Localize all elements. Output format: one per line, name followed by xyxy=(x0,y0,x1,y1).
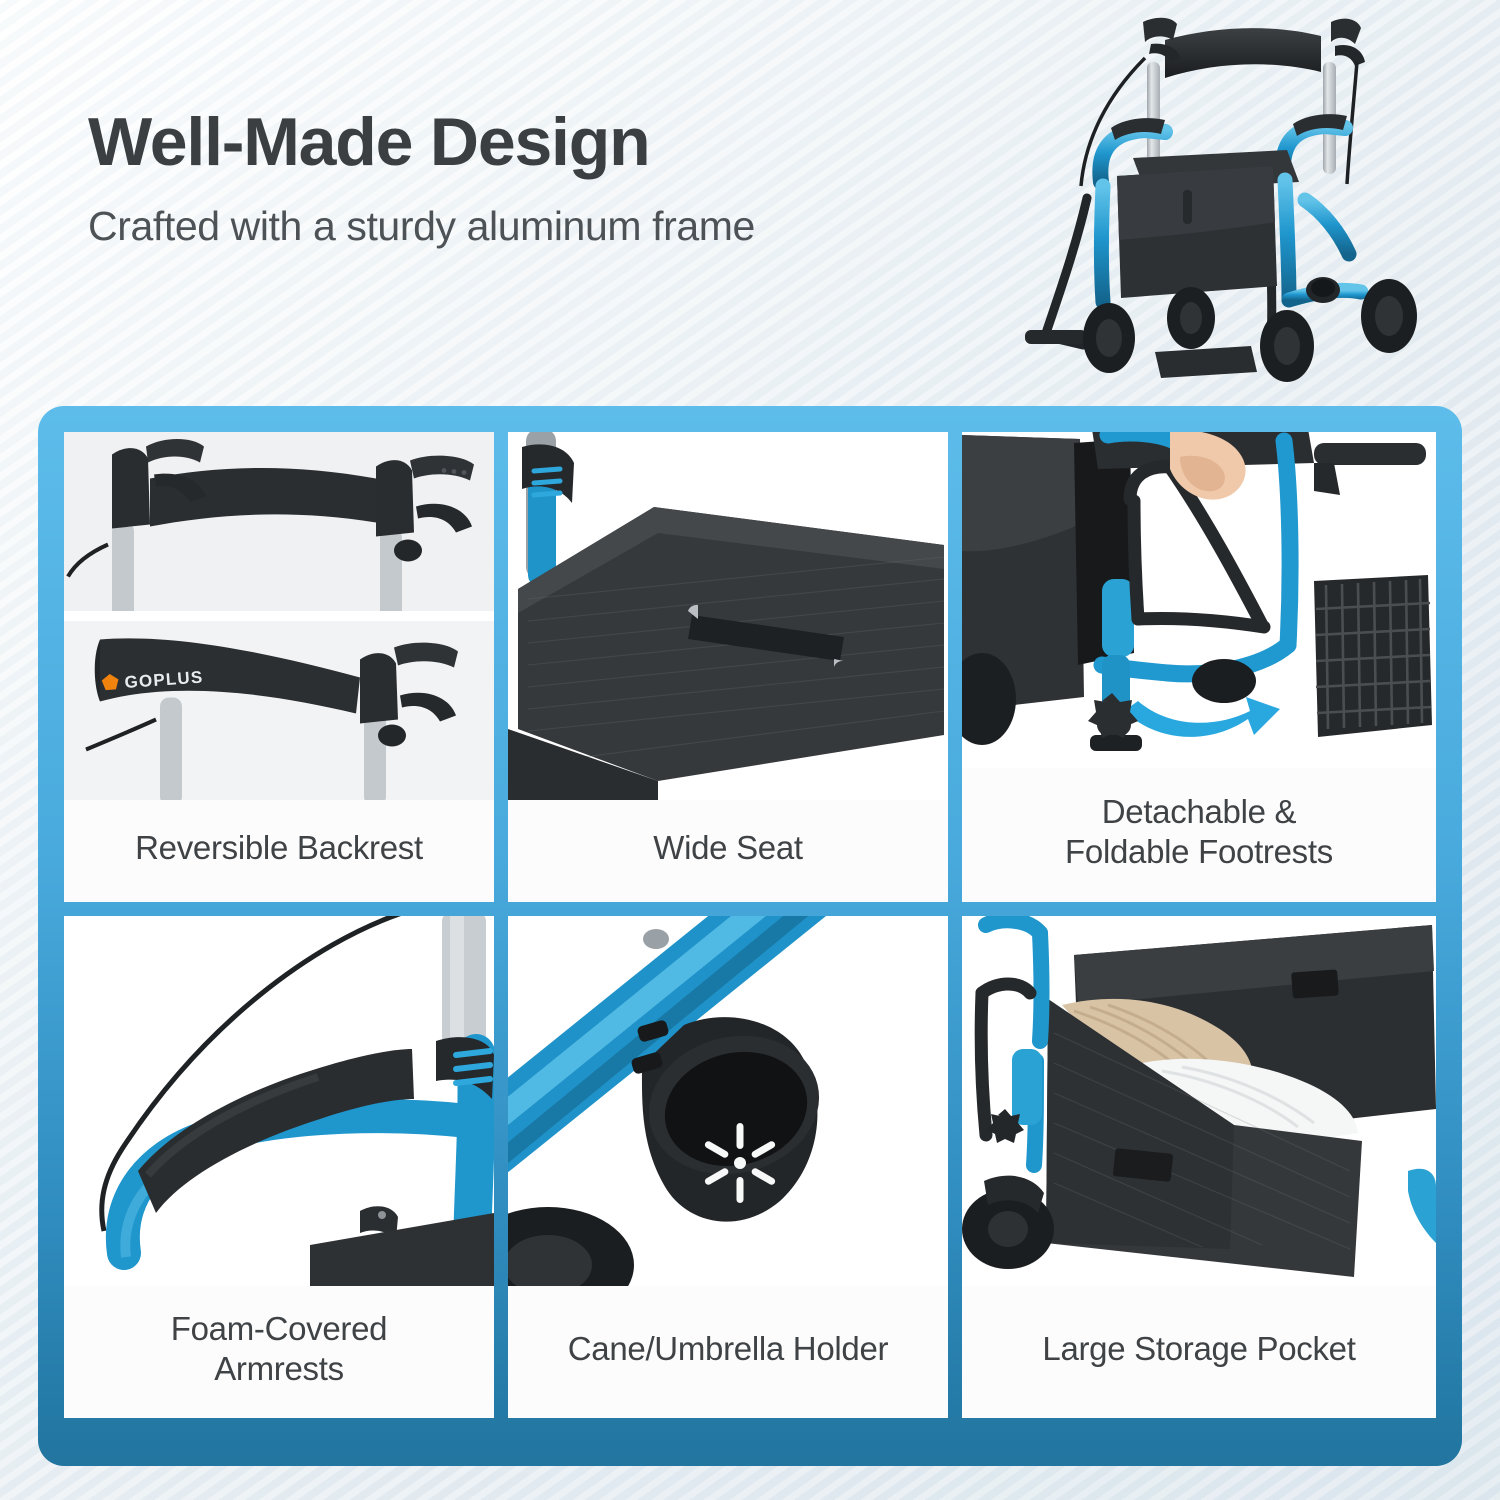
footrest-photo xyxy=(962,432,1436,768)
feature-caption-wide-seat: Wide Seat xyxy=(508,800,948,902)
grid-divider-vertical-4 xyxy=(948,916,962,1418)
grid-divider-vertical-3 xyxy=(494,916,508,1418)
armrest-photo xyxy=(64,916,494,1286)
feature-caption-detachable-foldable-footrests: Detachable & Foldable Footrests xyxy=(962,768,1436,902)
footrest-caption-line-1: Detachable & xyxy=(1102,793,1297,830)
feature-caption-cane-umbrella-holder: Cane/Umbrella Holder xyxy=(508,1286,948,1418)
grid-divider-horizontal-c xyxy=(962,902,1436,916)
grid-divider-vertical-1 xyxy=(494,432,508,902)
header-block: Well-Made Design Crafted with a sturdy a… xyxy=(88,108,988,250)
grid-divider-horizontal-a xyxy=(64,902,494,916)
grid-divider-cross-2 xyxy=(948,902,962,916)
feature-card-cane-umbrella-holder[interactable]: Cane/Umbrella Holder xyxy=(508,916,948,1418)
grid-divider-horizontal-b xyxy=(508,902,948,916)
backrest-photo-divider xyxy=(64,611,494,621)
feature-grid: ⬟ GOPLUS Reversible Backrest xyxy=(64,432,1436,1440)
wide-seat-photo xyxy=(508,432,948,800)
feature-grid-frame: ⬟ GOPLUS Reversible Backrest xyxy=(38,406,1462,1466)
grid-divider-cross-1 xyxy=(494,902,508,916)
backrest-front-photo xyxy=(64,432,494,611)
feature-caption-foam-covered-armrests: Foam-Covered Armrests xyxy=(64,1286,494,1418)
hero-product-image xyxy=(1005,0,1475,420)
armrest-caption-line-1: Foam-Covered xyxy=(171,1310,387,1347)
page-subtitle: Crafted with a sturdy aluminum frame xyxy=(88,203,988,250)
feature-card-wide-seat[interactable]: Wide Seat xyxy=(508,432,948,902)
grid-divider-vertical-2 xyxy=(948,432,962,902)
feature-card-detachable-foldable-footrests[interactable]: Detachable & Foldable Footrests xyxy=(962,432,1436,902)
infographic-page: Well-Made Design Crafted with a sturdy a… xyxy=(0,0,1500,1500)
feature-card-large-storage-pocket[interactable]: Large Storage Pocket xyxy=(962,916,1436,1418)
cup-holder-photo xyxy=(508,916,948,1286)
page-title: Well-Made Design xyxy=(88,108,988,177)
footrest-caption-line-2: Foldable Footrests xyxy=(1065,833,1333,870)
storage-pocket-photo xyxy=(962,916,1436,1286)
armrest-caption-line-2: Armrests xyxy=(214,1350,344,1387)
feature-caption-reversible-backrest: Reversible Backrest xyxy=(64,800,494,902)
feature-caption-large-storage-pocket: Large Storage Pocket xyxy=(962,1286,1436,1418)
backrest-reversed-photo: ⬟ GOPLUS xyxy=(64,621,494,800)
goplus-mark-icon: ⬟ xyxy=(101,673,119,693)
feature-card-foam-covered-armrests[interactable]: Foam-Covered Armrests xyxy=(64,916,494,1418)
feature-card-reversible-backrest[interactable]: ⬟ GOPLUS Reversible Backrest xyxy=(64,432,494,902)
